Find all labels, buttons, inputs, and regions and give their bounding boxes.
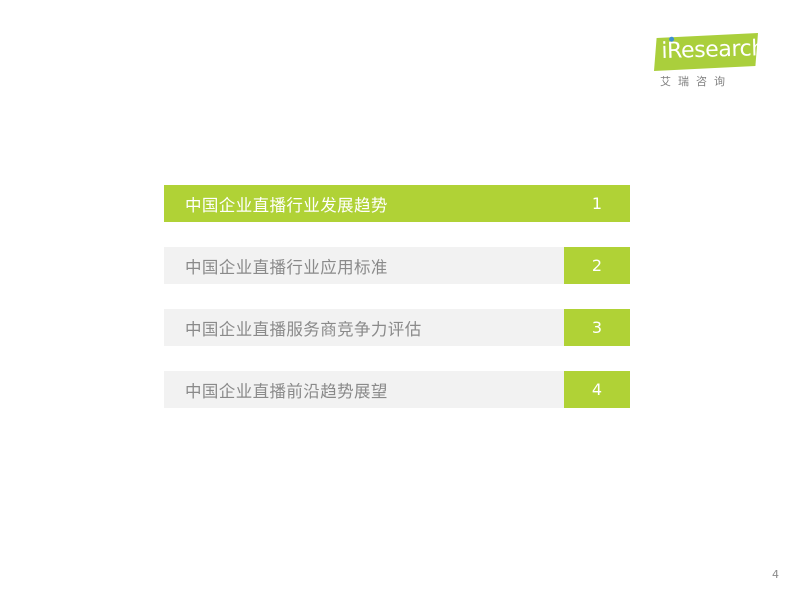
- iresearch-logo: iResearch 艾瑞咨询: [654, 33, 758, 95]
- agenda-item-2-label: 中国企业直播行业应用标准: [164, 247, 564, 284]
- agenda-item-4-label: 中国企业直播前沿趋势展望: [164, 371, 564, 408]
- agenda-item-4-number: 4: [564, 371, 630, 408]
- agenda-item-3-label: 中国企业直播服务商竞争力评估: [164, 309, 564, 346]
- agenda-item-2[interactable]: 中国企业直播行业应用标准 2: [164, 247, 630, 284]
- logo-mark: iResearch: [654, 33, 758, 71]
- agenda-item-3-number: 3: [564, 309, 630, 346]
- logo-dot-icon: [669, 37, 674, 42]
- agenda-item-1[interactable]: 中国企业直播行业发展趋势 1: [164, 185, 630, 222]
- agenda-list: 中国企业直播行业发展趋势 1 中国企业直播行业应用标准 2 中国企业直播服务商竞…: [164, 185, 630, 408]
- slide-canvas: iResearch 艾瑞咨询 中国企业直播行业发展趋势 1 中国企业直播行业应用…: [0, 0, 793, 595]
- logo-wordmark-rest: Research: [667, 36, 765, 64]
- agenda-item-3[interactable]: 中国企业直播服务商竞争力评估 3: [164, 309, 630, 346]
- agenda-item-1-label: 中国企业直播行业发展趋势: [164, 185, 564, 222]
- agenda-item-2-number: 2: [564, 247, 630, 284]
- page-number: 4: [772, 568, 779, 581]
- agenda-item-4[interactable]: 中国企业直播前沿趋势展望 4: [164, 371, 630, 408]
- logo-wordmark: iResearch: [661, 34, 765, 67]
- logo-subtitle: 艾瑞咨询: [660, 74, 758, 90]
- logo-letter-i: i: [661, 37, 668, 67]
- agenda-item-1-number: 1: [564, 185, 630, 222]
